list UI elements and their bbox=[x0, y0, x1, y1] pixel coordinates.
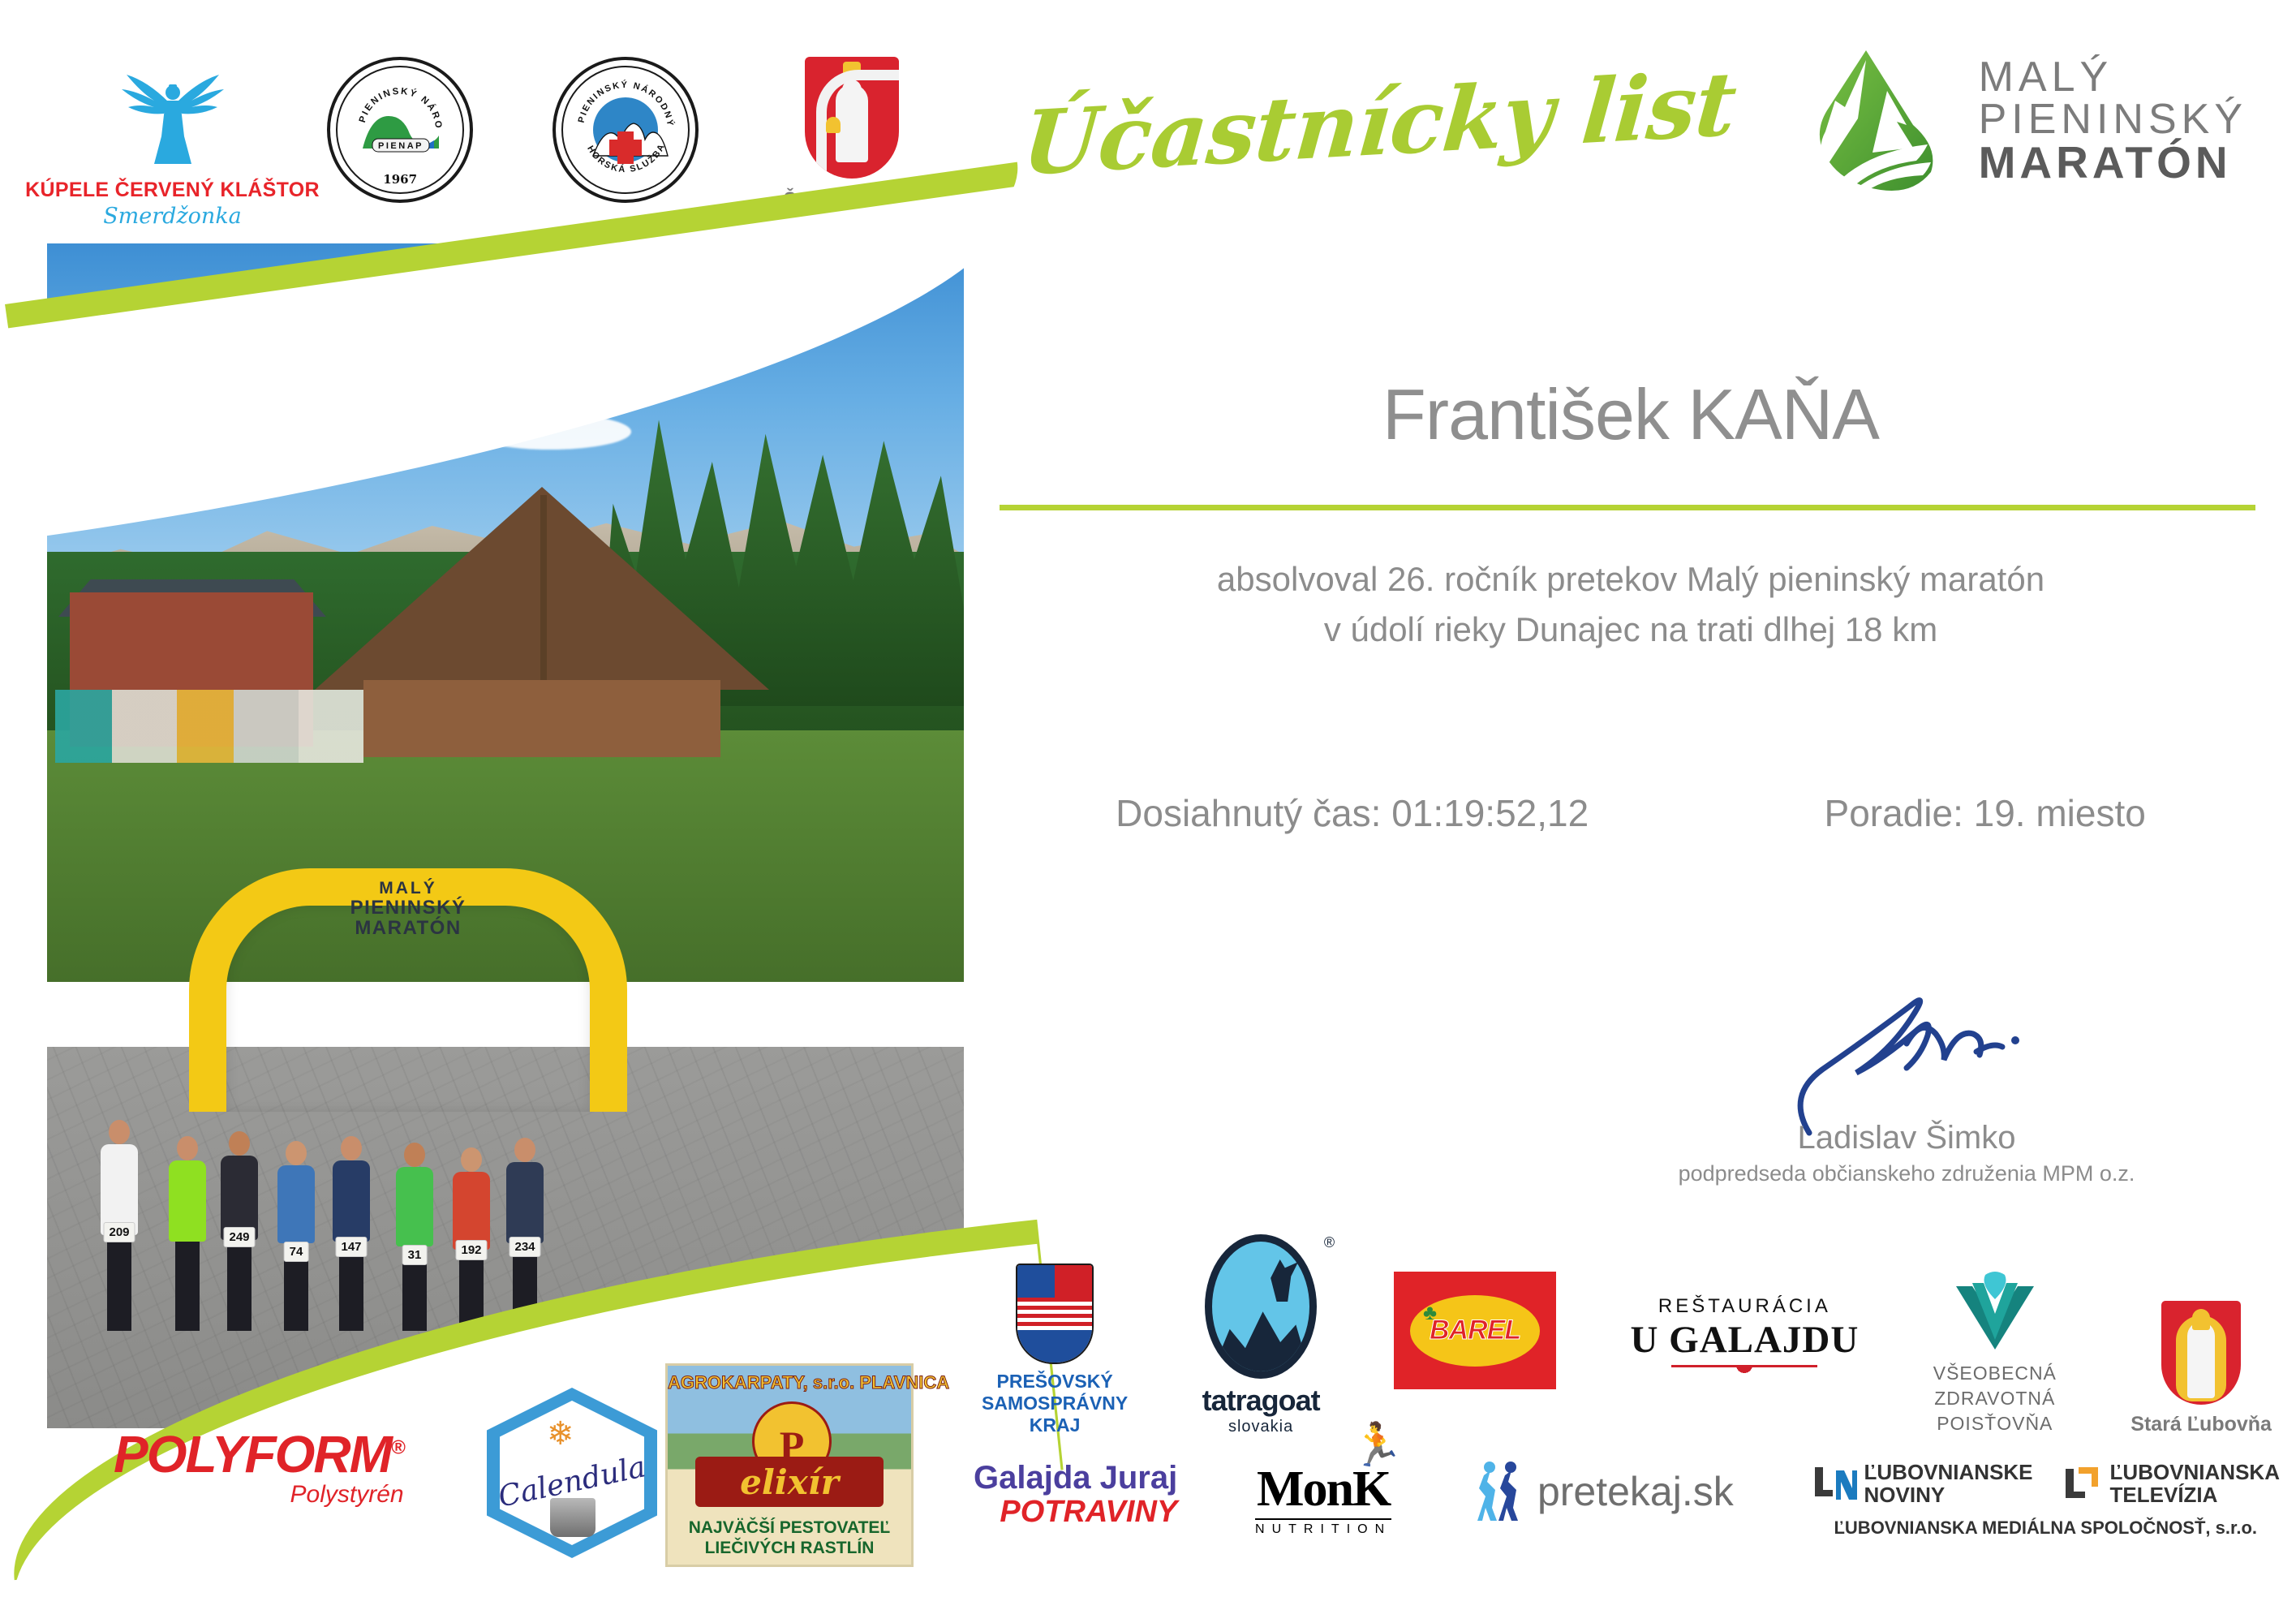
sponsor-eyebrow: REŠTAURÁCIA bbox=[1658, 1295, 1831, 1318]
signature-block: Ladislav Šimko podpredseda občianskeho z… bbox=[1639, 998, 2174, 1186]
mountain-rescue-emblem-icon: PIENINSKÝ NÁRODNÝ PARK HORSKÁ SLUŽBA bbox=[553, 57, 699, 203]
signatory-role: podpredseda občianskeho združenia MPM o.… bbox=[1639, 1161, 2174, 1186]
logo-kupele-cerveny-klastor: KÚPELE ČERVENÝ KLÁŠTOR Smerdžonka bbox=[81, 57, 264, 229]
certificate: KÚPELE ČERVENÝ KLÁŠTOR Smerdžonka PIENIN… bbox=[0, 0, 2296, 1623]
sponsor-eyebrow: AGROKARPATY, s.r.o. PLAVNICA bbox=[668, 1372, 911, 1393]
emblem-year: 1967 bbox=[330, 172, 470, 187]
sponsor-caption: VŠEOBECNÁ ZDRAVOTNÁ POISŤOVŇA bbox=[1933, 1361, 2057, 1436]
sponsor-name: tatragoat bbox=[1202, 1384, 1320, 1418]
brand-line-2: PIENINSKÝ bbox=[1979, 98, 2247, 140]
logo-line-2: TELEVÍZIA bbox=[2110, 1483, 2280, 1506]
media-company-caption: ĽUBOVNIANSKA MEDIÁLNA SPOLOČNOSŤ, s.r.o. bbox=[1834, 1518, 2257, 1539]
marigold-flower-icon: ❄ bbox=[547, 1415, 574, 1453]
svg-text:PIENAP: PIENAP bbox=[378, 141, 424, 151]
mountain-leaf-icon bbox=[1809, 47, 1951, 193]
sponsor-name: pretekaj.sk bbox=[1537, 1468, 1734, 1515]
sponsor-row-primary: PREŠOVSKÝ SAMOSPRÁVNY KRAJ ® tatragoat s… bbox=[982, 1233, 2272, 1436]
bib-number: 192 bbox=[456, 1241, 486, 1259]
registered-mark: ® bbox=[391, 1437, 404, 1459]
achievement-line-2: v údolí rieky Dunajec na trati dlhej 18 … bbox=[998, 610, 2264, 649]
brand-line-3: MARATÓN bbox=[1979, 140, 2247, 185]
sponsor-galajda-juraj: Galajda Juraj POTRAVINY bbox=[974, 1461, 1177, 1530]
bib-number: 234 bbox=[510, 1238, 540, 1256]
results-row: Dosiahnutý čas: 01:19:52,12 Poradie: 19.… bbox=[998, 791, 2264, 835]
barel-badge-icon: ♣ BAREL bbox=[1394, 1272, 1556, 1389]
clover-icon: ♣ bbox=[1423, 1300, 1437, 1325]
sponsor-name: elixír bbox=[740, 1462, 839, 1502]
ln-mark-icon bbox=[1812, 1464, 1857, 1503]
bib-number: 249 bbox=[224, 1228, 254, 1246]
lt-mark-icon bbox=[2061, 1464, 2103, 1503]
signatory-name: Ladislav Šimko bbox=[1639, 1120, 2174, 1156]
sponsor-u-galajdu: REŠTAURÁCIA U GALAJDU bbox=[1630, 1295, 1859, 1401]
divider-rule bbox=[1000, 505, 2255, 510]
svg-text:PIENINSKÝ NÁRODNÝ PARK: PIENINSKÝ NÁRODNÝ PARK bbox=[569, 73, 676, 131]
folk-ornament-icon bbox=[1671, 1365, 1817, 1401]
sponsor-agrokarpaty: AGROKARPATY, s.r.o. PLAVNICA P elixír NA… bbox=[665, 1363, 914, 1567]
page-title: Účastnícky list bbox=[994, 51, 1764, 196]
mortar-pestle-icon bbox=[550, 1498, 595, 1537]
spa-figure-icon bbox=[88, 57, 258, 179]
sponsor-pretekaj-sk: pretekaj.sk bbox=[1469, 1461, 1734, 1522]
sponsor-row-secondary: Galajda Juraj POTRAVINY 🏃 MonK NUTRITION… bbox=[974, 1461, 2280, 1607]
sponsor-lubovnianska-media: ĽUBOVNIANSKE NOVINY ĽUBOVNIANSKA TELEVÍZ… bbox=[1812, 1461, 2280, 1539]
sponsor-monk-nutrition: 🏃 MonK NUTRITION bbox=[1255, 1461, 1391, 1537]
arch-line-2: PIENINSKÝ MARATÓN bbox=[299, 898, 518, 938]
sponsor-vszp: VŠEOBECNÁ ZDRAVOTNÁ POISŤOVŇA bbox=[1933, 1272, 2057, 1436]
sponsor-subtitle: NUTRITION bbox=[1255, 1518, 1391, 1537]
sponsor-presovsky-kraj: PREŠOVSKÝ SAMOSPRÁVNY KRAJ bbox=[982, 1264, 1128, 1436]
arch-line-1: MALÝ bbox=[299, 880, 518, 898]
sponsor-name: BAREL bbox=[1430, 1315, 1520, 1346]
running-figure-icon: 🏃 bbox=[1351, 1420, 1404, 1470]
achievement-line-1: absolvoval 26. ročník pretekov Malý pien… bbox=[998, 560, 2264, 599]
two-runners-icon bbox=[1469, 1461, 1528, 1522]
sponsor-stara-lubovna: Stará Ľubovňa bbox=[2130, 1301, 2272, 1436]
sponsor-tatragoat: ® tatragoat slovakia bbox=[1202, 1234, 1320, 1436]
brand-line-1: MALÝ bbox=[1979, 56, 2247, 98]
pienap-emblem-icon: PIENINSKÝ NÁRODNÝ PARK PIENAP 1967 bbox=[327, 57, 473, 203]
result-place: Poradie: 19. miesto bbox=[1825, 791, 2146, 835]
sponsor-calendula: ❄ Calendula bbox=[487, 1388, 657, 1558]
bib-number: 31 bbox=[403, 1246, 427, 1264]
stara-lubovna-coat-of-arms-icon bbox=[2161, 1301, 2241, 1405]
vszp-chevron-icon bbox=[1953, 1272, 2037, 1356]
sponsor-name: Galajda Juraj bbox=[974, 1461, 1177, 1495]
logo-line-1: ĽUBOVNIANSKA bbox=[2110, 1461, 2280, 1483]
goat-mountain-icon bbox=[1205, 1234, 1317, 1379]
lubovnianske-noviny-logo: ĽUBOVNIANSKE NOVINY bbox=[1812, 1461, 2033, 1506]
registered-mark: ® bbox=[1324, 1234, 1335, 1251]
sponsor-caption: Stará Ľubovňa bbox=[2130, 1413, 2272, 1436]
sponsor-barel: ♣ BAREL bbox=[1394, 1272, 1556, 1389]
logo-caption: KÚPELE ČERVENÝ KLÁŠTOR bbox=[25, 179, 320, 202]
mpm-brand-logo: MALÝ PIENINSKÝ MARATÓN bbox=[1809, 47, 2247, 193]
bib-number: 147 bbox=[336, 1238, 366, 1256]
coat-of-arms-icon bbox=[805, 57, 899, 179]
lubovnianska-televizia-logo: ĽUBOVNIANSKA TELEVÍZIA bbox=[2061, 1461, 2280, 1506]
sponsor-subtitle: POTRAVINY bbox=[974, 1495, 1177, 1530]
signature-icon bbox=[1785, 974, 2053, 1136]
result-time: Dosiahnutý čas: 01:19:52,12 bbox=[1116, 791, 1589, 835]
svg-text:HORSKÁ SLUŽBA: HORSKÁ SLUŽBA bbox=[586, 142, 668, 175]
sponsor-polyform: POLYFORM® Polystyrén bbox=[114, 1424, 404, 1509]
event-photo: MALÝ PIENINSKÝ MARATÓN 209 bbox=[47, 243, 964, 1428]
presov-coat-of-arms-icon bbox=[1016, 1264, 1094, 1364]
bib-number: 74 bbox=[285, 1242, 308, 1261]
logo-line-1: ĽUBOVNIANSKE bbox=[1864, 1461, 2033, 1483]
sponsor-caption: PREŠOVSKÝ SAMOSPRÁVNY KRAJ bbox=[982, 1371, 1128, 1436]
participant-name: František KAŇA bbox=[998, 373, 2264, 456]
logo-horska-sluzba: PIENINSKÝ NÁRODNÝ PARK HORSKÁ SLUŽBA bbox=[536, 57, 715, 203]
sponsor-name: POLYFORM bbox=[114, 1425, 391, 1483]
logo-line-2: NOVINY bbox=[1864, 1483, 2033, 1506]
logo-pienap: PIENINSKÝ NÁRODNÝ PARK PIENAP 1967 bbox=[311, 57, 489, 203]
svg-text:PIENINSKÝ NÁRODNÝ PARK: PIENINSKÝ NÁRODNÝ PARK bbox=[351, 81, 443, 131]
sponsor-caption: NAJVÄČŠÍ PESTOVATEĽ LIEČIVÝCH RASTLÍN bbox=[668, 1518, 911, 1558]
sponsor-subtitle: Polystyrén bbox=[114, 1481, 404, 1509]
sponsor-subtitle: slovakia bbox=[1228, 1418, 1293, 1436]
sponsor-name: U GALAJDU bbox=[1630, 1318, 1859, 1362]
bib-number: 209 bbox=[104, 1223, 134, 1242]
logo-subcaption: Smerdžonka bbox=[103, 204, 242, 229]
